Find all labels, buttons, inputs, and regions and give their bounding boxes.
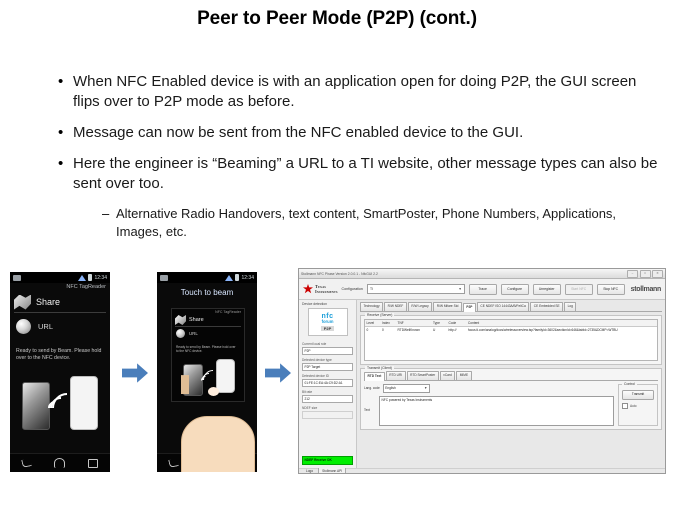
- trace-button[interactable]: Trace: [469, 284, 497, 295]
- nfc-logo-bottom: P2P: [321, 326, 335, 331]
- gui-bottom-tab-bar: Logo Stollmann API: [299, 468, 665, 474]
- hand-pointer-illustration: [181, 376, 253, 472]
- cell-index: 0: [381, 328, 397, 332]
- transmit-tab-bar: RTD Text RTD URI RTD SmartPoster vCard M…: [364, 372, 658, 381]
- language-dropdown[interactable]: English ▼: [383, 384, 430, 393]
- language-label: Lang. code: [364, 386, 380, 390]
- status-badge: NDEF Receive OK: [302, 456, 353, 465]
- receive-group-title: Receive (Server): [365, 313, 394, 317]
- tab-ce-ndef[interactable]: CE NDEF ISO 14443A/B/FeliCa: [477, 302, 529, 311]
- status-icons: 12:34: [225, 274, 254, 281]
- configuration-value: TI: [370, 287, 373, 291]
- transmit-button[interactable]: Transmit: [622, 390, 654, 400]
- cell-type: U: [432, 328, 448, 332]
- language-value: English: [385, 385, 395, 391]
- transmit-group-title: Transmit (Client): [365, 366, 394, 370]
- device-detection-panel: Device detection nfc forum P2P Current l…: [299, 300, 357, 468]
- bullet-marker: •: [58, 154, 73, 173]
- wifi-icon: [225, 275, 233, 281]
- table-header-row: Level Index TNF Type Code Content: [365, 320, 657, 327]
- transmit-body: Lang. code English ▼ Text NFC powered by…: [364, 384, 658, 426]
- field-value: [302, 411, 353, 420]
- tab-log[interactable]: Log: [564, 302, 576, 311]
- phone1-url-label: URL: [38, 322, 53, 331]
- configuration-dropdown[interactable]: TI ▼: [367, 284, 465, 294]
- clock-label: 12:34: [241, 275, 254, 281]
- phone1-app-title: NFC TagReader: [66, 284, 106, 290]
- bullet-text: When NFC Enabled device is with an appli…: [73, 72, 658, 112]
- configuration-label: Configuration: [342, 287, 363, 291]
- bullet-item: • Here the engineer is “Beaming” a URL t…: [58, 154, 658, 194]
- field-ndef-size: NDEF size: [302, 406, 353, 419]
- phone1-url-row[interactable]: URL: [16, 316, 106, 336]
- window-title: Stollmann NFC Phase Version 2.0.0.1 - Nf…: [301, 272, 378, 276]
- table-row[interactable]: 0 0 RTDWellKnown U http:// focus.ti.com/…: [365, 327, 657, 333]
- auto-label: Auto: [630, 404, 637, 408]
- phone2-url-row: URL: [176, 329, 198, 338]
- field-label: Detected device type: [302, 358, 353, 362]
- auto-checkbox[interactable]: [622, 403, 628, 409]
- column-header-level: Level: [365, 321, 381, 325]
- main-tab-bar: Technology R/W NDEF R/W Legacy R/W Mifar…: [360, 302, 662, 312]
- phone1-ready-text: Ready to send by Beam. Please hold over …: [16, 348, 104, 362]
- control-group-title: Control: [622, 382, 637, 386]
- field-value: 212: [302, 395, 353, 404]
- configure-button[interactable]: Configure: [501, 284, 529, 295]
- transmit-control-group: Control Transmit Auto: [618, 384, 658, 426]
- bullet-marker: •: [58, 72, 73, 91]
- cell-code: http://: [447, 328, 467, 332]
- battery-icon: [88, 274, 92, 281]
- status-icons: 12:34: [78, 274, 107, 281]
- url-icon: [176, 329, 185, 338]
- phone2-url-label: URL: [189, 331, 198, 336]
- transmit-fields: Lang. code English ▼ Text NFC powered by…: [364, 384, 614, 426]
- cell-level: 0: [365, 328, 381, 332]
- stop-nfc-button[interactable]: Stop NFC: [597, 284, 625, 295]
- back-icon[interactable]: [21, 458, 31, 468]
- tab-rw-legacy[interactable]: R/W Legacy: [408, 302, 432, 311]
- field-bit-rate: Bit rate 212: [302, 390, 353, 403]
- phone1-status-bar: 12:34: [10, 272, 110, 283]
- battery-icon: [235, 274, 239, 281]
- wifi-icon: [78, 275, 86, 281]
- bullet-text: Message can now be sent from the NFC ena…: [73, 123, 658, 143]
- share-icon: [175, 315, 186, 325]
- language-row: Lang. code English ▼: [364, 384, 614, 393]
- url-icon: [16, 319, 31, 334]
- dark-device-icon: [22, 382, 50, 430]
- share-icon: [14, 295, 31, 310]
- texas-instruments-logo: Texas Instruments: [303, 284, 338, 294]
- right-arrow-icon: [265, 362, 291, 384]
- sub-bullet-marker: –: [102, 205, 116, 223]
- column-header-type: Type: [432, 321, 448, 325]
- field-value: 01:FE:1C:EA:4A:C9:D2:A1: [302, 379, 353, 388]
- tab-rtd-text[interactable]: RTD Text: [364, 372, 385, 381]
- device-detection-title: Device detection: [302, 302, 353, 306]
- phone2-share-label: Share: [189, 317, 204, 323]
- close-button[interactable]: ✕: [652, 270, 663, 278]
- gui-toolbar: Texas Instruments Configuration TI ▼ Tra…: [299, 279, 665, 300]
- sub-bullet-text: Alternative Radio Handovers, text conten…: [116, 205, 658, 241]
- minimize-button[interactable]: –: [627, 270, 638, 278]
- ti-logo-line2: Instruments: [315, 289, 338, 294]
- chevron-down-icon: ▼: [424, 385, 427, 391]
- unregister-button[interactable]: Unregister: [533, 284, 561, 295]
- start-nfc-button: Start NFC: [565, 284, 593, 295]
- right-arrow-icon: [122, 362, 148, 384]
- light-device-icon: [70, 376, 98, 430]
- tab-technology[interactable]: Technology: [360, 302, 383, 311]
- field-label: Detected device ID: [302, 374, 353, 378]
- nfc-forum-p2p-logo: nfc forum P2P: [308, 308, 348, 336]
- tab-ce-embedded-se[interactable]: CE Embedded SE: [530, 302, 563, 311]
- bullet-item: • Message can now be sent from the NFC e…: [58, 123, 658, 143]
- tab-rw-ndef[interactable]: R/W NDEF: [384, 302, 407, 311]
- cell-content: focus.ti.com/analog/docs/wirelessovervie…: [467, 328, 658, 332]
- field-label: Bit rate: [302, 390, 353, 394]
- tab-mime[interactable]: MIME: [456, 371, 471, 380]
- phone1-nav-bar: [10, 453, 110, 472]
- nfc-logo-mid: forum: [322, 320, 334, 325]
- chevron-down-icon: ▼: [458, 287, 461, 291]
- field-value: P2P: [302, 347, 353, 356]
- phone2-status-bar: 12:34: [157, 272, 257, 283]
- column-header-content: Content: [467, 321, 658, 325]
- tab-rw-mifare-std[interactable]: R/W Mifare Std: [433, 302, 462, 311]
- maximize-button[interactable]: □: [640, 270, 651, 278]
- column-header-code: Code: [447, 321, 467, 325]
- bullet-list: • When NFC Enabled device is with an app…: [58, 72, 658, 241]
- text-label: Text: [364, 396, 376, 426]
- bullet-item: • When NFC Enabled device is with an app…: [58, 72, 658, 112]
- gui-main-panel: Technology R/W NDEF R/W Legacy R/W Mifar…: [357, 300, 665, 468]
- receive-message-table[interactable]: Level Index TNF Type Code Content 0 0 RT…: [364, 319, 658, 361]
- clock-label: 12:34: [94, 275, 107, 281]
- window-title-bar: Stollmann NFC Phase Version 2.0.0.1 - Nf…: [299, 269, 665, 279]
- phone2-ready-text: Ready to send by Beam. Please hold over …: [176, 345, 238, 354]
- phone2-share-row: Share: [175, 314, 241, 327]
- figure-strip: 12:34 NFC TagReader Share URL Ready to s…: [0, 264, 674, 479]
- ti-star-icon: [303, 284, 313, 294]
- phone1-share-row: Share: [14, 292, 106, 313]
- field-current-local-role: Current local role P2P: [302, 342, 353, 355]
- beam-illustration: [20, 376, 100, 438]
- gui-body: Device detection nfc forum P2P Current l…: [299, 300, 665, 468]
- notification-icon: [13, 275, 21, 281]
- tab-vcard[interactable]: vCard: [440, 371, 456, 380]
- field-label: Current local role: [302, 342, 353, 346]
- tab-rtd-uri[interactable]: RTD URI: [386, 371, 406, 380]
- sub-bullet-list: – Alternative Radio Handovers, text cont…: [102, 205, 658, 241]
- receive-server-group: Receive (Server) Level Index TNF Type Co…: [360, 315, 662, 365]
- field-value: P2P Target: [302, 363, 353, 372]
- recent-apps-icon[interactable]: [88, 459, 98, 468]
- text-input[interactable]: NFC powered by Texas Instruments: [379, 396, 614, 426]
- auto-checkbox-row[interactable]: Auto: [622, 403, 654, 409]
- nfc-gui-window: Stollmann NFC Phase Version 2.0.0.1 - Nf…: [298, 268, 666, 474]
- text-row: Text NFC powered by Texas Instruments: [364, 396, 614, 426]
- notification-icon: [160, 275, 168, 281]
- tab-rtd-smartposter[interactable]: RTD SmartPoster: [407, 371, 439, 380]
- back-icon[interactable]: [168, 458, 178, 468]
- phone1-share-label: Share: [36, 297, 60, 307]
- field-detected-device-id: Detected device ID 01:FE:1C:EA:4A:C9:D2:…: [302, 374, 353, 387]
- column-header-index: Index: [381, 321, 397, 325]
- bottom-tab-logo[interactable]: Logo: [303, 468, 316, 474]
- window-controls: – □ ✕: [627, 270, 663, 278]
- cell-tnf: RTDWellKnown: [396, 328, 432, 332]
- home-icon[interactable]: [54, 458, 65, 468]
- bullet-marker: •: [58, 123, 73, 142]
- field-detected-device-type: Detected device type P2P Target: [302, 358, 353, 371]
- column-header-tnf: TNF: [396, 321, 432, 325]
- page-title: Peer to Peer Mode (P2P) (cont.): [0, 8, 674, 30]
- bottom-tab-stollmann-api[interactable]: Stollmann API: [318, 467, 346, 474]
- transmit-client-group: Transmit (Client) RTD Text RTD URI RTD S…: [360, 368, 662, 430]
- tab-p2p[interactable]: P2P: [463, 303, 476, 312]
- bullet-text: Here the engineer is “Beaming” a URL to …: [73, 154, 658, 194]
- phone-screenshot-touch-to-beam: 12:34 Touch to beam NFC TagReader Share …: [157, 272, 257, 472]
- touch-to-beam-label: Touch to beam: [157, 288, 257, 297]
- stollmann-logo: stollmann: [629, 286, 661, 293]
- sub-bullet-item: – Alternative Radio Handovers, text cont…: [102, 205, 658, 241]
- field-label: NDEF size: [302, 406, 353, 410]
- phone-screenshot-share: 12:34 NFC TagReader Share URL Ready to s…: [10, 272, 110, 472]
